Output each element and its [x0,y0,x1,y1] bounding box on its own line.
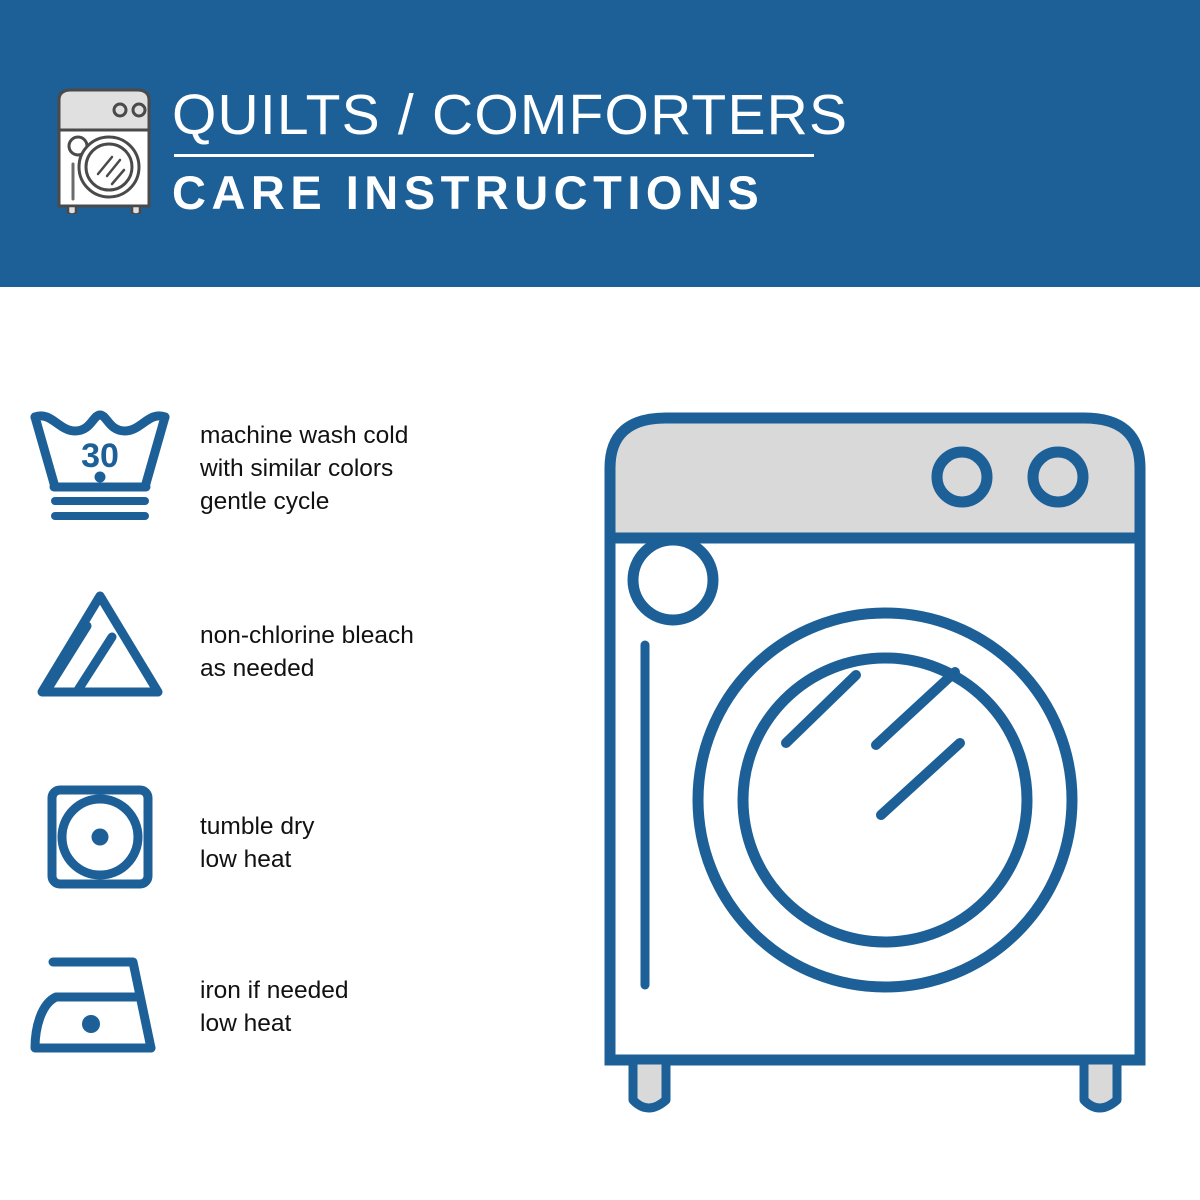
care-row-wash: 30 machine wash cold with similar colors… [0,405,520,523]
care-caption-iron: iron if needed low heat [200,952,348,1040]
care-caption-line: as needed [200,652,414,685]
page-header: QUILTS / COMFORTERS CARE INSTRUCTIONS [0,0,1200,287]
bleach-triangle-icon [0,587,200,701]
page-subtitle: CARE INSTRUCTIONS [172,167,832,219]
care-caption-line: tumble dry [200,810,314,843]
care-row-iron: iron if needed low heat [0,952,520,1056]
header-title-block: QUILTS / COMFORTERS CARE INSTRUCTIONS [172,84,832,219]
iron-icon [0,952,200,1056]
care-caption-line: non-chlorine bleach [200,619,414,652]
washing-machine-illustration [588,400,1178,1120]
care-row-bleach: non-chlorine bleach as needed [0,587,520,701]
control-knob [937,452,987,502]
care-caption-line: machine wash cold [200,419,408,452]
page-title: QUILTS / COMFORTERS [172,84,832,146]
care-caption-line: iron if needed [200,974,348,1007]
wash-temperature-label: 30 [81,437,119,475]
care-caption-bleach: non-chlorine bleach as needed [200,587,414,685]
title-divider [174,154,814,157]
care-instruction-list: 30 machine wash cold with similar colors… [0,287,560,1200]
care-caption-line: low heat [200,843,314,876]
washing-machine-icon [52,82,162,214]
wash-tub-icon: 30 [0,405,200,523]
care-caption-line: with similar colors [200,452,408,485]
care-caption-line: low heat [200,1007,348,1040]
tumble-dry-icon [0,782,200,892]
care-caption-wash: machine wash cold with similar colors ge… [200,405,408,518]
door-inner-ring [743,658,1027,942]
machine-leg [633,1060,666,1108]
door-latch [633,540,713,620]
care-instructions-page: QUILTS / COMFORTERS CARE INSTRUCTIONS 30 [0,0,1200,1200]
care-caption-line: gentle cycle [200,485,408,518]
machine-leg [1084,1060,1117,1108]
care-row-tumble-dry: tumble dry low heat [0,782,520,892]
control-knob [1033,452,1083,502]
care-caption-tumble-dry: tumble dry low heat [200,782,314,876]
